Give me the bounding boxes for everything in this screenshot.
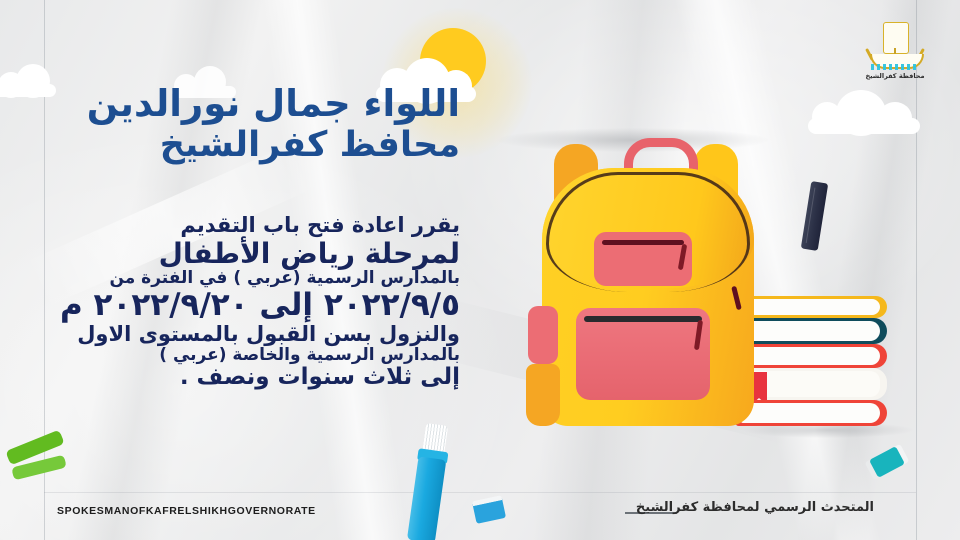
- backpack-top-pocket-zipper: [602, 240, 684, 245]
- body-line-6: بالمدارس الرسمية والخاصة (عربي ): [60, 346, 460, 365]
- marker-barrel: [407, 456, 446, 540]
- sail-shape: [883, 22, 909, 54]
- yellow-backpack: [528, 128, 768, 446]
- announcement-body: يقرر اعادة فتح باب التقديم لمرحلة رياض ا…: [60, 214, 460, 391]
- logo-caption: محافظة كفرالشيخ: [858, 72, 932, 80]
- felucca-boat-icon: [858, 22, 932, 70]
- body-line-2: لمرحلة رياض الأطفال: [60, 238, 460, 269]
- body-line-3: بالمدارس الرسمية (عربي ) في الفترة من: [60, 269, 460, 288]
- body-line-7: إلى ثلاث سنوات ونصف .: [60, 365, 460, 391]
- body-line-4-dates: ٢٠٢٢/٩/٥ إلى ٢٠٢٢/٩/٢٠ م: [60, 288, 460, 323]
- governorate-logo: محافظة كفرالشيخ: [858, 22, 932, 88]
- headline-line-1: اللواء جمال نورالدين: [87, 84, 460, 123]
- cloud-top-left: [0, 62, 60, 96]
- headline-line-2: محافظ كفرالشيخ: [87, 127, 460, 164]
- water-waves-icon: [871, 64, 919, 70]
- teal-eraser: [869, 446, 905, 478]
- body-line-1: يقرر اعادة فتح باب التقديم: [60, 214, 460, 238]
- page-title: اللواء جمال نورالدين محافظ كفرالشيخ: [87, 84, 460, 164]
- poster-canvas: محافظة كفرالشيخ اللواء جمال نورالدين محا…: [0, 0, 960, 540]
- backpack-side-pocket: [528, 306, 558, 364]
- blue-eraser: [472, 495, 506, 524]
- body-line-5: والنزول بسن القبول بالمستوى الاول: [60, 323, 460, 347]
- frame-line-bottom: [44, 492, 916, 493]
- footer-arabic: المتحدث الرسمي لمحافظة كفرالشيخ: [636, 500, 874, 515]
- dark-pen: [801, 181, 828, 251]
- blue-marker: [407, 423, 451, 540]
- cloud-top-right: [806, 88, 926, 132]
- footer-english: SPOKESMANOFKAFRELSHIKHGOVERNORATE: [57, 505, 316, 517]
- backpack-front-pocket-zipper: [584, 316, 702, 322]
- backpack-side-flap: [526, 364, 560, 426]
